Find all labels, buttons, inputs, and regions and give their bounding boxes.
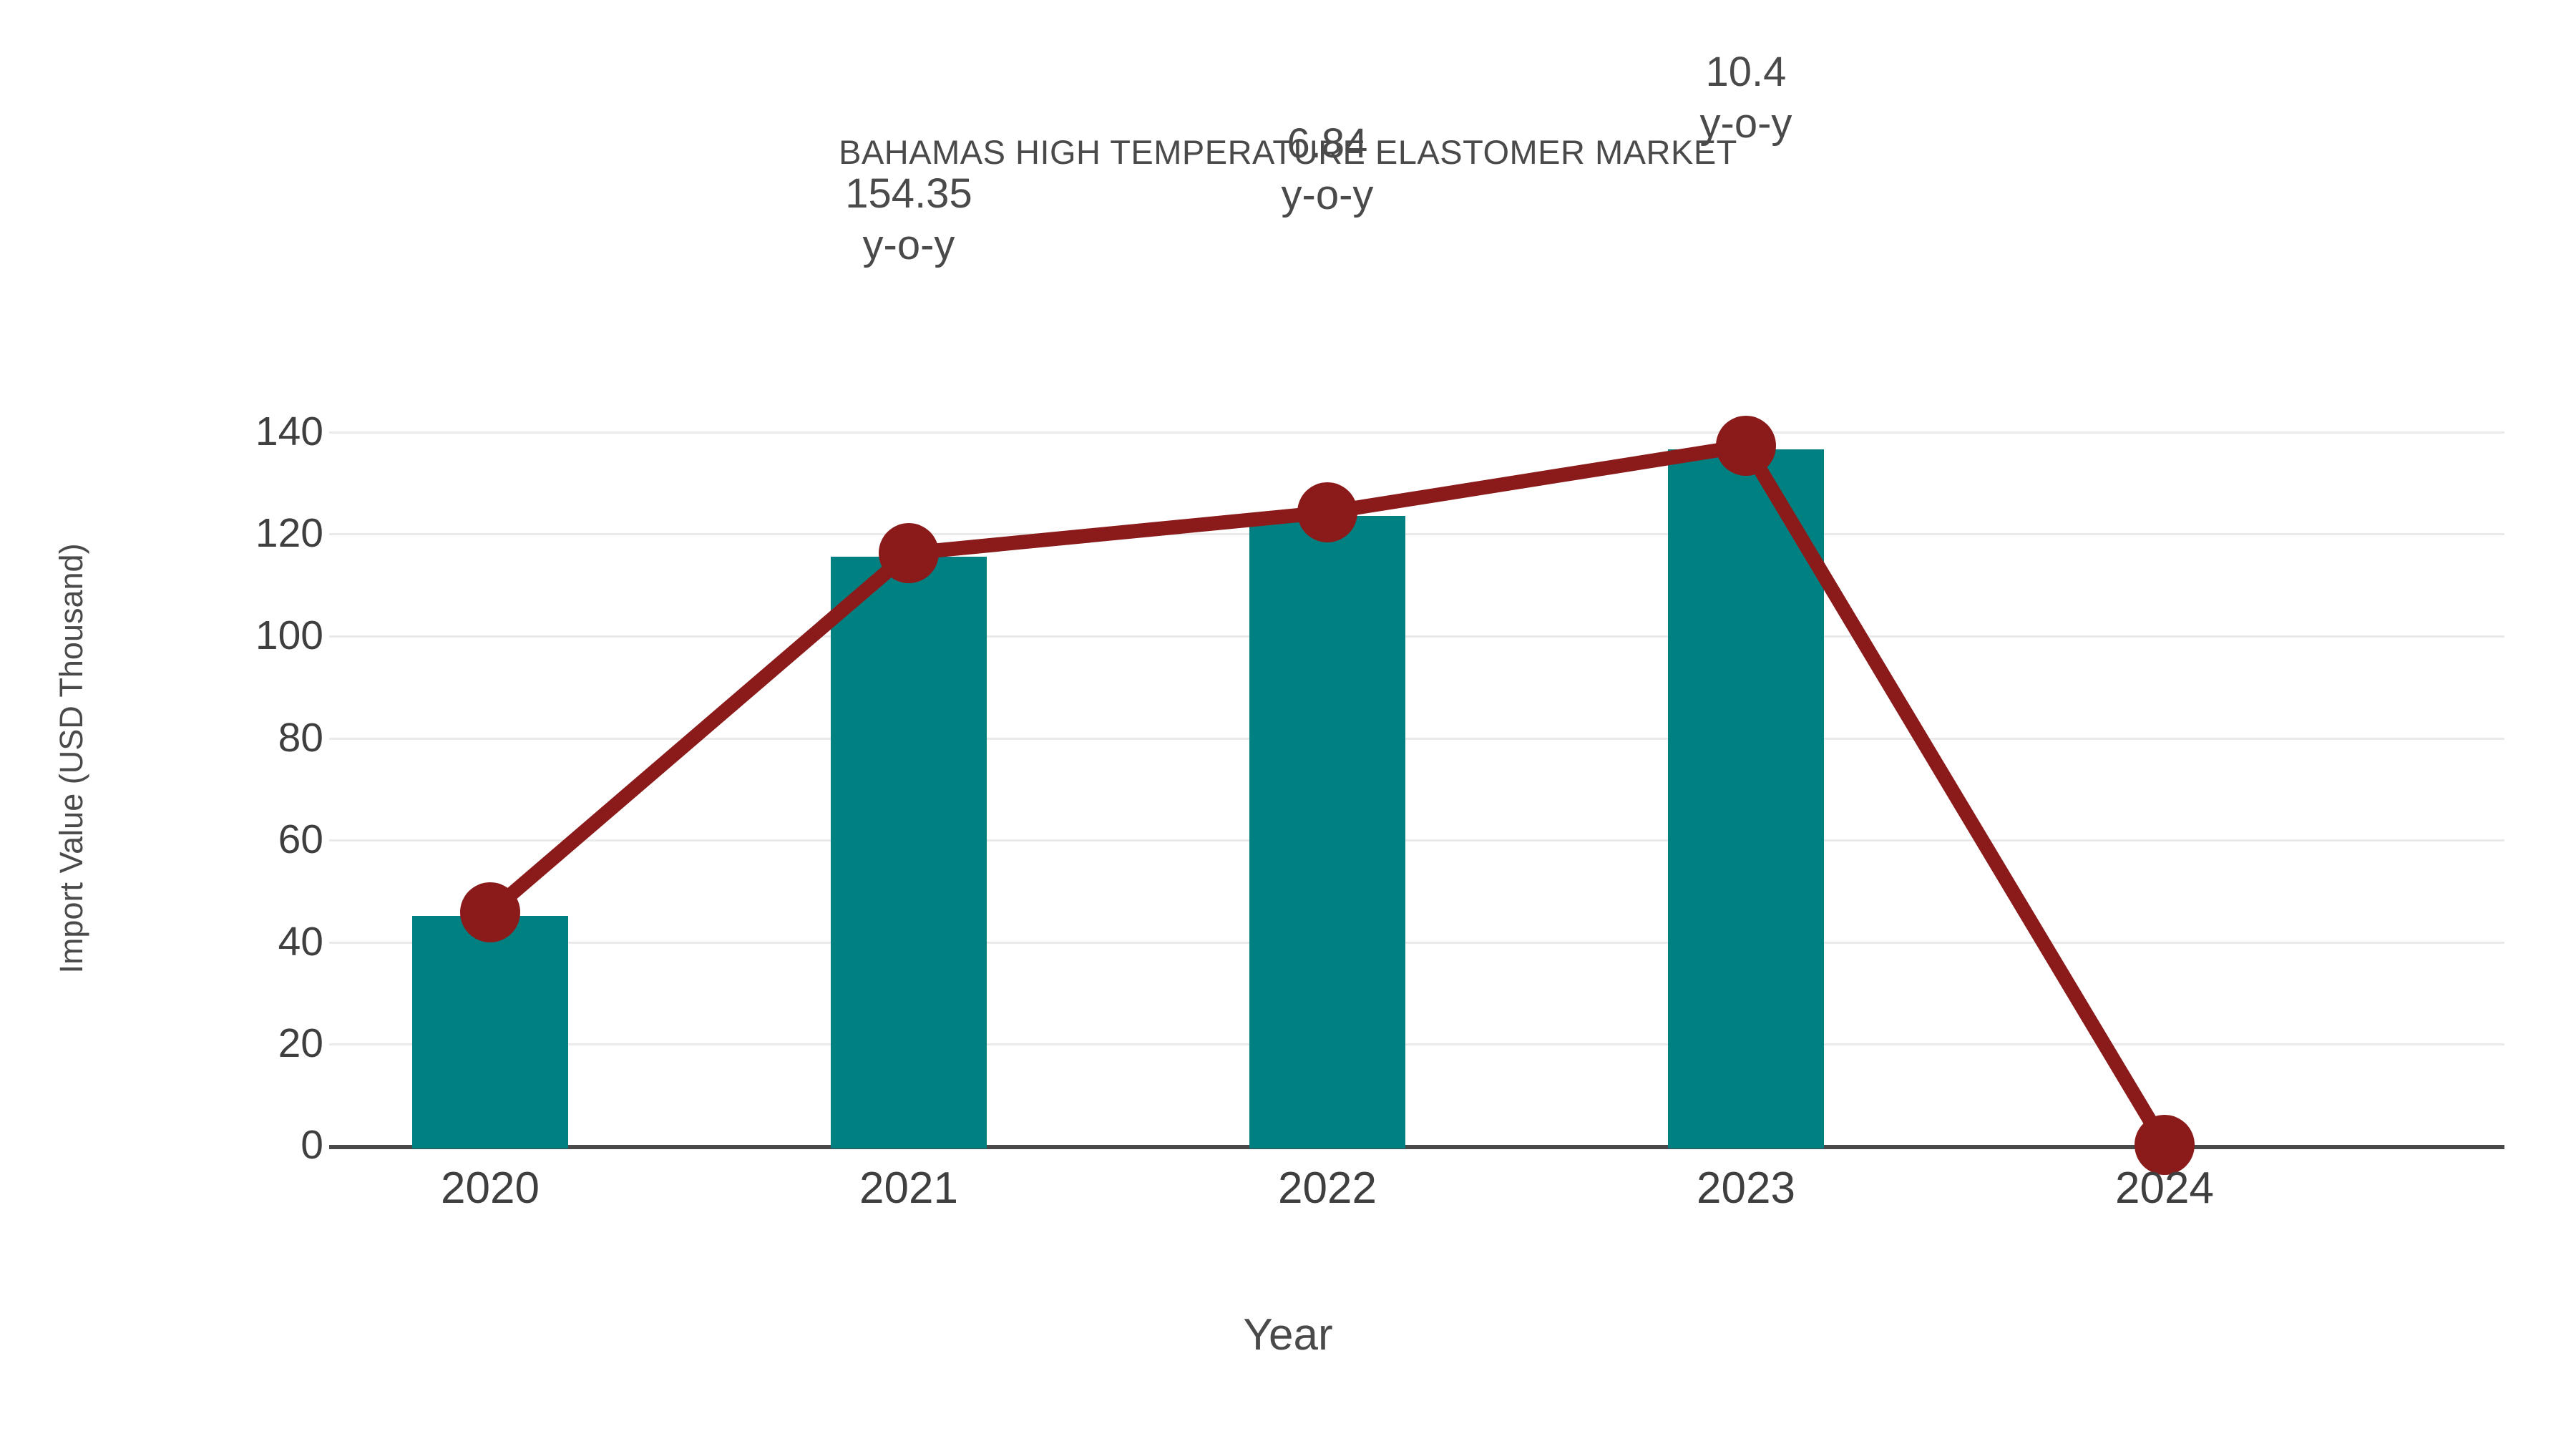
y-tick-label-0: 0 xyxy=(109,1121,323,1169)
data-label-2022: 6.84 y-o-y xyxy=(1148,118,1506,221)
y-tick-label-120: 120 xyxy=(109,509,323,557)
gridline-80 xyxy=(329,738,2504,740)
plot-area: 140 120 100 80 60 40 20 0 2020 2021 2022… xyxy=(329,426,2504,1148)
y-axis-title: Import Value (USD Thousand) xyxy=(53,543,90,973)
x-tick-label-2020: 2020 xyxy=(347,1163,633,1214)
x-axis-line xyxy=(329,1145,2504,1149)
gridline-100 xyxy=(329,635,2504,638)
bar-2023[interactable] xyxy=(1668,449,1824,1148)
data-label-2021: 154.35 y-o-y xyxy=(730,168,1088,271)
bar-2020[interactable] xyxy=(412,916,568,1148)
data-label-2022-unit: y-o-y xyxy=(1148,170,1506,221)
y-tick-label-80: 80 xyxy=(109,714,323,761)
gridline-60 xyxy=(329,839,2504,841)
y-tick-label-100: 100 xyxy=(109,612,323,659)
x-tick-label-2024: 2024 xyxy=(2021,1163,2308,1214)
x-axis-title: Year xyxy=(0,1309,2576,1360)
bar-2021[interactable] xyxy=(831,557,987,1148)
gridline-140 xyxy=(329,431,2504,434)
x-tick-label-2021: 2021 xyxy=(766,1163,1052,1214)
data-label-2021-unit: y-o-y xyxy=(730,220,1088,271)
gridline-40 xyxy=(329,942,2504,944)
gridline-120 xyxy=(329,533,2504,535)
bar-2022[interactable] xyxy=(1249,516,1405,1148)
gridline-20 xyxy=(329,1043,2504,1045)
x-tick-label-2023: 2023 xyxy=(1603,1163,1889,1214)
y-tick-label-60: 60 xyxy=(109,816,323,863)
data-label-2021-value: 154.35 xyxy=(730,168,1088,220)
data-label-2022-value: 6.84 xyxy=(1148,118,1506,170)
data-label-2023-unit: y-o-y xyxy=(1567,98,1925,150)
y-tick-label-40: 40 xyxy=(109,918,323,965)
data-label-2023-value: 10.4 xyxy=(1567,47,1925,98)
y-tick-label-20: 20 xyxy=(109,1020,323,1067)
data-label-2023: 10.4 y-o-y xyxy=(1567,47,1925,150)
x-tick-label-2022: 2022 xyxy=(1184,1163,1470,1214)
chart-figure: BAHAMAS HIGH TEMPERATURE ELASTOMER MARKE… xyxy=(0,0,2576,1449)
y-tick-label-140: 140 xyxy=(109,408,323,455)
